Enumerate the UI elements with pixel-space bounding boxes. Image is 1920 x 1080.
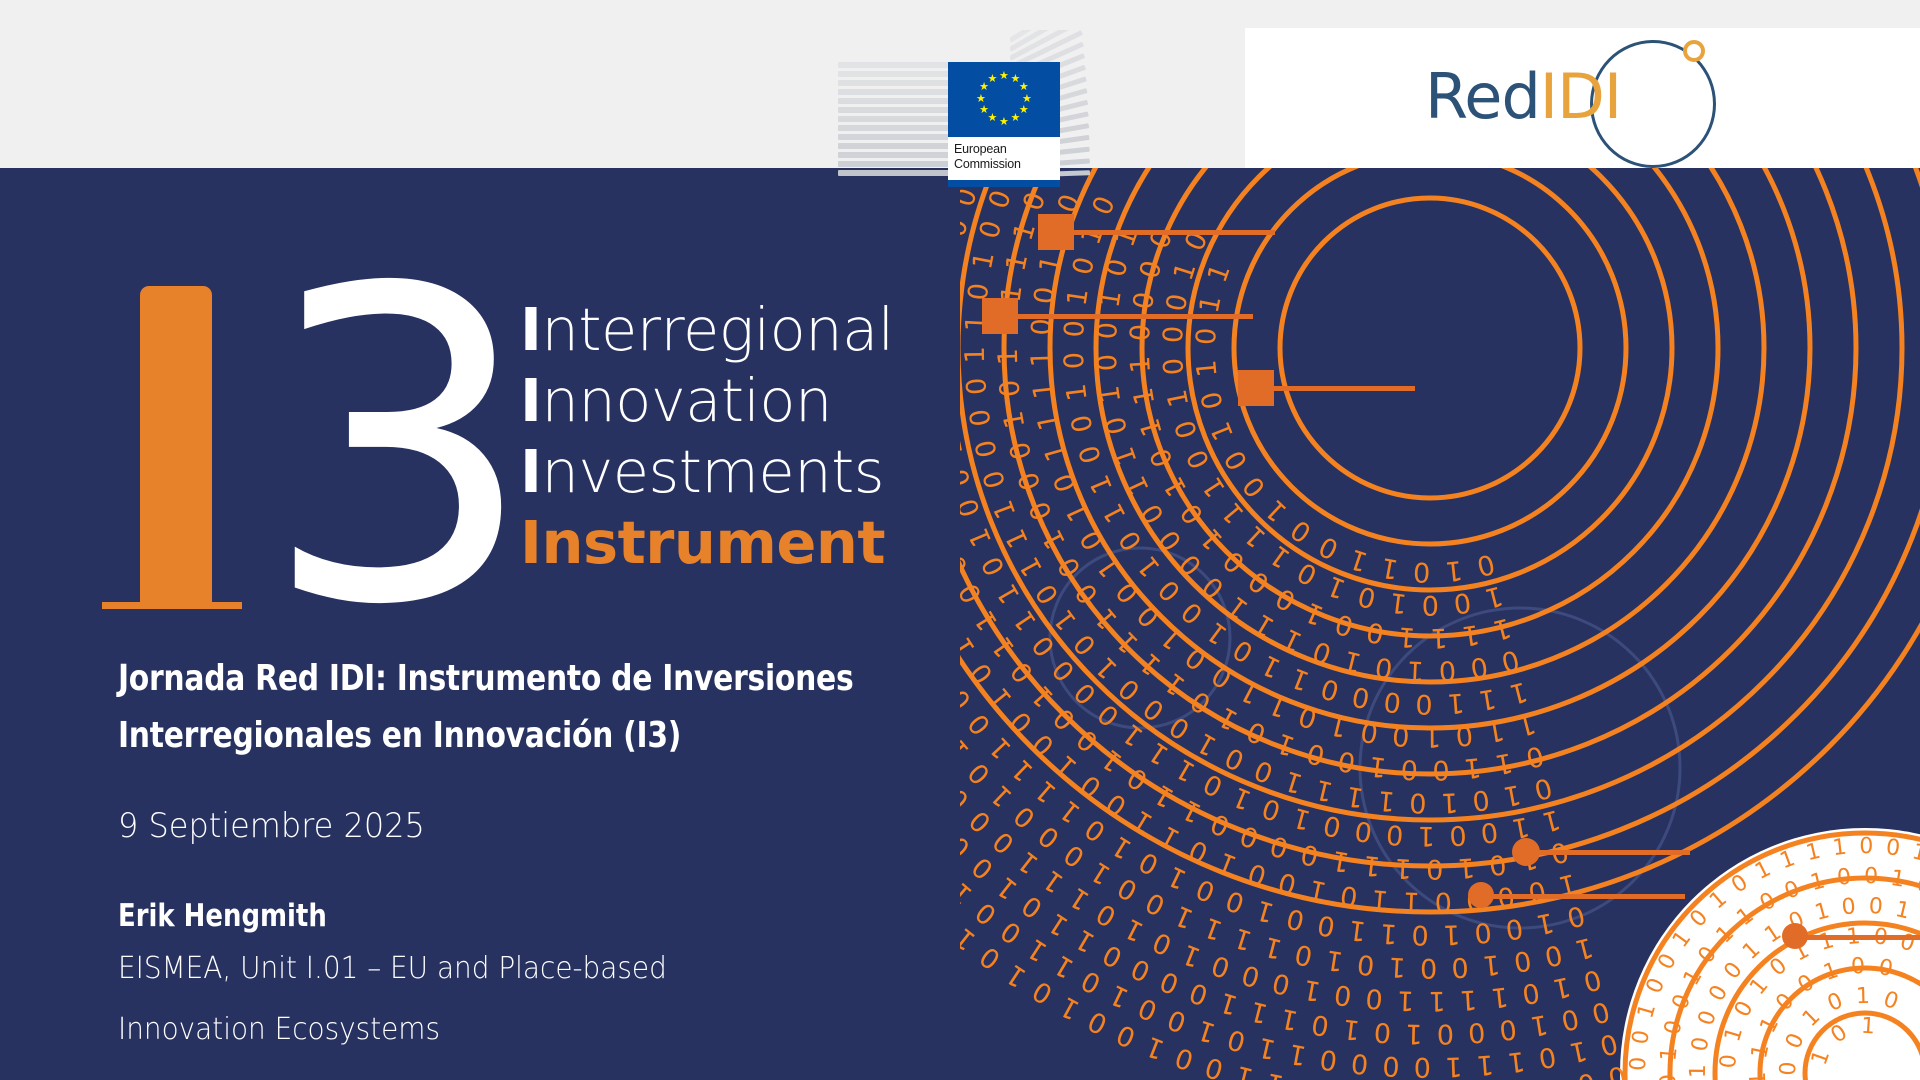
i3-word-line-2: Innovation xyxy=(520,365,920,436)
svg-text:1: 1 xyxy=(1028,380,1061,400)
svg-text:0: 0 xyxy=(1184,833,1213,868)
svg-text:1: 1 xyxy=(1490,611,1514,645)
svg-text:0: 0 xyxy=(1411,919,1429,950)
svg-text:0: 0 xyxy=(970,437,1004,461)
svg-text:1: 1 xyxy=(1534,906,1557,940)
svg-text:1: 1 xyxy=(1501,778,1524,812)
svg-text:0: 0 xyxy=(1542,938,1565,972)
svg-text:0: 0 xyxy=(1841,894,1857,920)
svg-text:0: 0 xyxy=(1024,497,1059,525)
svg-text:0: 0 xyxy=(1222,884,1249,919)
page-title-line2: Interregionales en Innovación (I3) xyxy=(118,707,946,764)
svg-text:1: 1 xyxy=(1656,1046,1682,1062)
redidi-wordmark: RedIDI xyxy=(1425,66,1621,128)
svg-text:0: 0 xyxy=(1335,744,1358,778)
svg-text:0: 0 xyxy=(1164,710,1195,745)
svg-text:1: 1 xyxy=(1457,851,1476,883)
svg-text:1: 1 xyxy=(1109,443,1144,470)
svg-text:0: 0 xyxy=(1434,886,1452,917)
svg-text:1: 1 xyxy=(1444,554,1464,587)
svg-text:1: 1 xyxy=(1216,986,1242,1021)
svg-text:1: 1 xyxy=(967,249,1001,272)
node-square-3 xyxy=(1238,370,1274,406)
connector-line-3 xyxy=(1265,386,1415,391)
svg-text:1: 1 xyxy=(1255,1031,1279,1065)
redidi-dot-icon xyxy=(1683,40,1705,62)
i3-rest-1: nterregional xyxy=(541,295,893,364)
svg-text:0: 0 xyxy=(1134,257,1168,282)
svg-text:0: 0 xyxy=(1208,949,1234,984)
svg-text:1: 1 xyxy=(1163,859,1192,894)
svg-text:0: 0 xyxy=(1356,948,1376,981)
svg-text:1: 1 xyxy=(1379,917,1398,949)
svg-text:1: 1 xyxy=(1539,803,1563,837)
svg-text:1: 1 xyxy=(1205,417,1240,444)
page-title-line1: Jornada Red IDI: Instrumento de Inversio… xyxy=(118,650,946,707)
svg-text:0: 0 xyxy=(1656,1073,1682,1080)
svg-text:1: 1 xyxy=(1257,648,1286,683)
svg-text:1: 1 xyxy=(1022,932,1053,967)
svg-text:1: 1 xyxy=(1460,618,1481,651)
svg-text:1: 1 xyxy=(1300,596,1328,631)
svg-text:0: 0 xyxy=(1295,1072,1317,1080)
svg-text:0: 0 xyxy=(1158,357,1190,376)
svg-text:0: 0 xyxy=(1350,1047,1370,1080)
node-dot-4 xyxy=(1512,838,1540,866)
svg-text:0: 0 xyxy=(1318,1043,1339,1076)
svg-text:0: 0 xyxy=(1451,951,1470,983)
svg-text:0: 0 xyxy=(1112,1018,1140,1053)
node-square-1 xyxy=(1038,214,1074,250)
svg-text:0: 0 xyxy=(1067,254,1101,278)
svg-text:1: 1 xyxy=(1489,980,1509,1013)
svg-text:0: 0 xyxy=(1716,1053,1742,1069)
svg-text:0: 0 xyxy=(1134,991,1162,1026)
svg-text:0: 0 xyxy=(1385,818,1404,850)
svg-text:1: 1 xyxy=(1128,804,1159,839)
i3-rest-2: nnovation xyxy=(541,366,831,435)
connector-line-4 xyxy=(1530,850,1690,855)
svg-text:0: 0 xyxy=(1269,966,1293,1000)
svg-text:1: 1 xyxy=(1330,844,1352,877)
svg-text:0: 0 xyxy=(1864,864,1879,889)
svg-text:0: 0 xyxy=(1432,754,1450,785)
svg-text:1: 1 xyxy=(1394,852,1413,884)
svg-text:0: 0 xyxy=(1148,925,1176,960)
svg-text:0: 0 xyxy=(1134,845,1164,880)
svg-text:1: 1 xyxy=(1880,804,1896,830)
svg-text:1: 1 xyxy=(1170,899,1198,934)
presentation-slide: 0101100100101011100101011110010001011110… xyxy=(0,0,1920,1080)
svg-text:1: 1 xyxy=(1194,293,1228,316)
svg-text:1: 1 xyxy=(1367,750,1388,783)
svg-text:0: 0 xyxy=(964,407,997,429)
svg-text:0: 0 xyxy=(1473,916,1493,948)
svg-text:0: 0 xyxy=(1219,445,1254,475)
svg-text:1: 1 xyxy=(1370,883,1390,915)
svg-text:1: 1 xyxy=(1341,1013,1362,1046)
svg-text:0: 0 xyxy=(1186,976,1213,1011)
svg-text:1: 1 xyxy=(1038,863,1070,898)
svg-text:1: 1 xyxy=(1261,930,1285,964)
svg-text:1: 1 xyxy=(1125,355,1157,374)
svg-text:1: 1 xyxy=(1424,721,1441,752)
svg-text:1: 1 xyxy=(1134,415,1169,440)
svg-text:0: 0 xyxy=(1355,580,1379,614)
i3-letter-i-base xyxy=(102,602,242,609)
svg-text:1: 1 xyxy=(1403,885,1421,917)
svg-text:1: 1 xyxy=(1428,985,1446,1016)
svg-text:0: 0 xyxy=(1258,792,1284,827)
svg-text:0: 0 xyxy=(978,467,1013,492)
svg-text:0: 0 xyxy=(1236,819,1263,854)
svg-text:1: 1 xyxy=(1121,471,1156,500)
svg-text:1: 1 xyxy=(1055,990,1085,1025)
svg-text:1: 1 xyxy=(1286,1037,1309,1071)
svg-text:0: 0 xyxy=(1098,938,1128,973)
svg-text:0: 0 xyxy=(1125,323,1157,342)
svg-text:1: 1 xyxy=(1097,498,1132,528)
svg-text:1: 1 xyxy=(1014,552,1049,582)
svg-text:1: 1 xyxy=(1856,984,1871,1009)
svg-text:1: 1 xyxy=(963,523,998,551)
svg-text:0: 0 xyxy=(1206,807,1234,842)
svg-text:1: 1 xyxy=(1397,620,1417,652)
ec-wordmark: European Commission xyxy=(948,137,1060,180)
binary-circles-graphic: 0101100100101011100101011110010001011110… xyxy=(960,168,1920,1080)
connector-line-2 xyxy=(1008,314,1253,319)
svg-text:1: 1 xyxy=(1396,984,1414,1016)
svg-text:1: 1 xyxy=(1462,751,1482,784)
svg-text:1: 1 xyxy=(1263,1066,1286,1080)
svg-text:0: 0 xyxy=(1454,719,1474,751)
svg-text:1: 1 xyxy=(1459,983,1478,1015)
svg-text:0: 0 xyxy=(1836,864,1853,890)
svg-text:1: 1 xyxy=(1388,586,1409,619)
ec-line1: European xyxy=(948,137,1060,157)
svg-text:1: 1 xyxy=(1406,654,1425,686)
svg-text:0: 0 xyxy=(1523,739,1547,773)
svg-text:1: 1 xyxy=(1442,918,1460,950)
svg-text:1: 1 xyxy=(1075,222,1110,248)
svg-text:1: 1 xyxy=(1567,1034,1590,1068)
svg-text:0: 0 xyxy=(1382,685,1402,718)
svg-text:0: 0 xyxy=(1318,672,1343,707)
svg-text:0: 0 xyxy=(1267,829,1292,864)
svg-text:1: 1 xyxy=(1110,224,1145,251)
svg-text:1: 1 xyxy=(1430,622,1448,654)
speaker-name: Erik Hengmith xyxy=(118,894,955,938)
svg-text:0: 0 xyxy=(1092,353,1124,372)
svg-text:1: 1 xyxy=(1347,914,1368,947)
svg-text:1: 1 xyxy=(1323,569,1350,604)
node-square-2 xyxy=(982,298,1018,334)
svg-text:1: 1 xyxy=(1026,350,1057,368)
svg-text:1: 1 xyxy=(1253,894,1278,929)
i3-wordmark: Interregional Innovation Investments Ins… xyxy=(520,294,920,578)
svg-text:1: 1 xyxy=(1572,931,1596,965)
svg-text:1: 1 xyxy=(1831,835,1848,861)
ec-flag-block: ★★★★★★★★★★★★ European Commission xyxy=(948,62,1060,180)
svg-text:0: 0 xyxy=(1332,607,1358,642)
svg-text:1: 1 xyxy=(1230,921,1256,956)
svg-text:1: 1 xyxy=(1105,978,1134,1013)
svg-text:0: 0 xyxy=(1126,952,1155,987)
connector-line-1 xyxy=(1065,230,1275,235)
svg-text:0: 0 xyxy=(1059,838,1091,873)
svg-text:0: 0 xyxy=(1086,192,1121,220)
eu-flag-icon: ★★★★★★★★★★★★ xyxy=(948,62,1060,137)
svg-text:0: 0 xyxy=(994,378,1027,398)
svg-text:1: 1 xyxy=(1278,1002,1301,1036)
svg-text:0: 0 xyxy=(1202,1051,1227,1080)
svg-text:1: 1 xyxy=(1008,219,1043,244)
svg-text:1: 1 xyxy=(1000,524,1035,553)
svg-text:1: 1 xyxy=(1446,686,1465,718)
svg-text:0: 0 xyxy=(1171,1041,1197,1076)
svg-text:1: 1 xyxy=(988,496,1023,523)
i3-logo: 3 Interregional Innovation Investments I… xyxy=(110,278,900,623)
svg-text:0: 0 xyxy=(1512,944,1534,977)
svg-text:0: 0 xyxy=(1467,1016,1486,1048)
i3-initial-3: I xyxy=(520,437,541,506)
svg-text:1: 1 xyxy=(1061,382,1094,403)
svg-text:0: 0 xyxy=(1027,974,1058,1009)
svg-text:1: 1 xyxy=(1607,984,1635,1005)
svg-text:0: 0 xyxy=(1228,633,1259,668)
svg-text:1: 1 xyxy=(1281,764,1307,799)
svg-text:0: 0 xyxy=(960,578,989,608)
svg-text:0: 0 xyxy=(1564,899,1588,933)
svg-text:1: 1 xyxy=(1162,387,1196,410)
svg-text:0: 0 xyxy=(1350,680,1373,714)
binary-arcs-svg: 0101100100101011100101011110010001011110… xyxy=(960,168,1920,1080)
svg-text:0: 0 xyxy=(1420,952,1437,983)
svg-text:1: 1 xyxy=(1528,1008,1550,1041)
svg-text:0: 0 xyxy=(1414,1051,1432,1080)
ec-line2: Commission xyxy=(948,157,1060,172)
svg-text:0: 0 xyxy=(1224,1023,1249,1057)
svg-text:1: 1 xyxy=(1158,471,1193,501)
svg-text:0: 0 xyxy=(1191,327,1223,346)
svg-text:1: 1 xyxy=(1070,923,1100,958)
svg-text:0: 0 xyxy=(1855,804,1869,829)
redidi-part2: IDI xyxy=(1540,60,1621,133)
redidi-part1: Red xyxy=(1425,60,1540,133)
svg-text:0: 0 xyxy=(1799,809,1818,836)
svg-text:0: 0 xyxy=(1314,530,1343,565)
svg-text:0: 0 xyxy=(1415,688,1433,719)
svg-text:1: 1 xyxy=(1388,951,1407,983)
svg-text:1: 1 xyxy=(1405,1018,1423,1049)
svg-text:0: 0 xyxy=(1059,351,1091,369)
speaker-affiliation-line2: Innovation Ecosystems xyxy=(118,999,955,1060)
svg-text:0: 0 xyxy=(1503,912,1524,945)
svg-text:0: 0 xyxy=(1004,438,1038,462)
svg-text:1: 1 xyxy=(1475,1048,1495,1080)
svg-text:0: 0 xyxy=(1030,578,1065,609)
svg-text:1: 1 xyxy=(1232,1059,1256,1080)
svg-text:1: 1 xyxy=(1312,773,1336,807)
i3-word-line-3: Investments xyxy=(520,436,920,507)
svg-text:0: 0 xyxy=(1013,468,1048,494)
svg-text:0: 0 xyxy=(1473,547,1497,581)
svg-text:0: 0 xyxy=(1066,412,1100,435)
node-dot-5 xyxy=(1468,882,1494,908)
svg-text:0: 0 xyxy=(1135,498,1170,529)
svg-text:0: 0 xyxy=(1298,837,1322,871)
svg-text:1: 1 xyxy=(1289,801,1314,835)
svg-text:0: 0 xyxy=(1479,815,1500,848)
svg-text:1: 1 xyxy=(1049,949,1080,984)
svg-text:0: 0 xyxy=(1498,1013,1519,1046)
svg-text:0: 0 xyxy=(1083,1004,1112,1039)
svg-text:1: 1 xyxy=(1235,674,1265,709)
svg-text:0: 0 xyxy=(1292,938,1315,972)
svg-text:0: 0 xyxy=(1536,1040,1558,1073)
svg-text:0: 0 xyxy=(1391,719,1410,751)
svg-text:1: 1 xyxy=(1324,943,1346,976)
event-date: 9 Septiembre 2025 xyxy=(118,806,964,846)
svg-text:0: 0 xyxy=(1309,1008,1331,1041)
svg-text:1: 1 xyxy=(1362,849,1383,882)
i3-initial-1: I xyxy=(520,295,541,364)
svg-text:1: 1 xyxy=(1200,911,1227,946)
svg-text:0: 0 xyxy=(1113,871,1143,906)
svg-text:0: 0 xyxy=(1338,879,1360,912)
svg-text:1: 1 xyxy=(1482,579,1506,613)
svg-text:0: 0 xyxy=(1163,1003,1190,1038)
svg-text:1: 1 xyxy=(1616,958,1645,981)
svg-text:1: 1 xyxy=(1128,385,1161,407)
svg-text:0: 0 xyxy=(1448,819,1467,851)
svg-text:1: 1 xyxy=(1192,726,1222,761)
svg-text:1: 1 xyxy=(1168,259,1203,285)
svg-text:0: 0 xyxy=(1092,321,1124,340)
svg-text:0: 0 xyxy=(1438,654,1457,686)
svg-text:0: 0 xyxy=(1487,848,1508,881)
svg-text:0: 0 xyxy=(1588,995,1612,1029)
svg-text:0: 0 xyxy=(1073,441,1108,467)
svg-text:1: 1 xyxy=(1064,881,1095,916)
svg-text:0: 0 xyxy=(1413,556,1431,588)
svg-text:0: 0 xyxy=(1409,787,1427,818)
svg-text:0: 0 xyxy=(1158,325,1190,344)
svg-text:0: 0 xyxy=(1859,834,1873,859)
svg-text:1: 1 xyxy=(1746,1071,1772,1080)
svg-text:1: 1 xyxy=(1860,1014,1876,1040)
svg-text:1: 1 xyxy=(1827,805,1844,831)
svg-text:1: 1 xyxy=(1481,948,1501,981)
svg-text:0: 0 xyxy=(1321,809,1344,843)
svg-text:1: 1 xyxy=(1286,661,1313,696)
svg-text:0: 0 xyxy=(1422,589,1439,620)
svg-text:0: 0 xyxy=(1169,416,1204,442)
svg-text:0: 0 xyxy=(1868,894,1884,920)
svg-text:1: 1 xyxy=(1095,288,1128,310)
svg-text:0: 0 xyxy=(1382,1050,1401,1080)
svg-text:0: 0 xyxy=(1426,853,1443,884)
svg-text:1: 1 xyxy=(1043,906,1074,941)
svg-text:0: 0 xyxy=(1400,753,1419,785)
svg-text:0: 0 xyxy=(1141,886,1170,921)
svg-text:0: 0 xyxy=(1026,318,1058,337)
svg-text:1: 1 xyxy=(1106,829,1137,864)
node-dot-6 xyxy=(1782,923,1808,949)
svg-text:1: 1 xyxy=(1202,260,1237,287)
svg-text:1: 1 xyxy=(1085,855,1116,890)
svg-text:1: 1 xyxy=(960,522,962,549)
svg-text:0: 0 xyxy=(1364,615,1387,649)
svg-text:1: 1 xyxy=(1000,251,1034,274)
svg-text:1: 1 xyxy=(1344,780,1366,813)
svg-text:0: 0 xyxy=(1747,825,1770,854)
redidi-logo: RedIDI xyxy=(1245,28,1920,168)
svg-text:1: 1 xyxy=(1506,675,1530,709)
svg-text:1: 1 xyxy=(1062,286,1095,307)
svg-text:1: 1 xyxy=(1247,995,1271,1029)
svg-text:1: 1 xyxy=(1084,470,1119,498)
svg-text:0: 0 xyxy=(1080,812,1112,847)
i3-word-line-4: Instrument xyxy=(520,507,920,578)
svg-text:0: 0 xyxy=(1156,964,1184,999)
svg-text:1: 1 xyxy=(1301,973,1324,1007)
ec-blue-bar xyxy=(948,180,1060,187)
svg-text:1: 1 xyxy=(1249,607,1280,642)
svg-text:0: 0 xyxy=(1059,319,1091,338)
svg-text:0: 0 xyxy=(1315,908,1337,942)
svg-text:0: 0 xyxy=(1161,291,1195,313)
svg-text:0: 0 xyxy=(1575,1066,1598,1080)
svg-text:0: 0 xyxy=(1303,737,1328,771)
svg-text:0: 0 xyxy=(1850,954,1866,980)
svg-text:0: 0 xyxy=(1076,964,1106,999)
svg-text:0: 0 xyxy=(974,217,1008,242)
svg-text:1: 1 xyxy=(1177,793,1206,828)
svg-text:1: 1 xyxy=(1773,816,1794,844)
svg-text:1: 1 xyxy=(1445,1050,1463,1080)
svg-text:1: 1 xyxy=(1376,784,1396,817)
svg-text:0: 0 xyxy=(1373,1016,1392,1048)
svg-text:0: 0 xyxy=(1192,872,1220,907)
svg-text:1: 1 xyxy=(993,348,1024,366)
svg-text:0: 0 xyxy=(1332,978,1353,1011)
svg-text:0: 0 xyxy=(1284,902,1308,936)
svg-text:0: 0 xyxy=(1113,525,1148,556)
svg-text:1: 1 xyxy=(1506,1045,1527,1078)
i3-rest-3: nvestments xyxy=(541,437,884,506)
svg-text:1: 1 xyxy=(1418,820,1435,851)
svg-text:0: 0 xyxy=(1353,814,1374,847)
svg-text:1: 1 xyxy=(998,409,1031,431)
svg-text:0: 0 xyxy=(1271,581,1301,616)
svg-text:1: 1 xyxy=(1228,780,1256,815)
svg-text:0: 0 xyxy=(983,186,1018,212)
svg-text:0: 0 xyxy=(1091,897,1121,932)
svg-text:1: 1 xyxy=(1156,819,1186,854)
svg-text:0: 0 xyxy=(1626,1056,1652,1071)
svg-text:0: 0 xyxy=(1309,634,1336,669)
svg-text:0: 0 xyxy=(1101,787,1133,822)
svg-text:0: 0 xyxy=(1531,771,1555,805)
svg-text:1: 1 xyxy=(1194,1013,1220,1048)
svg-text:0: 0 xyxy=(1128,290,1161,312)
svg-text:0: 0 xyxy=(1558,1002,1581,1036)
svg-text:1: 1 xyxy=(1686,1064,1711,1078)
svg-text:1: 1 xyxy=(1119,912,1148,947)
i3-initial-2: I xyxy=(520,366,541,435)
svg-text:0: 0 xyxy=(1597,1027,1621,1061)
